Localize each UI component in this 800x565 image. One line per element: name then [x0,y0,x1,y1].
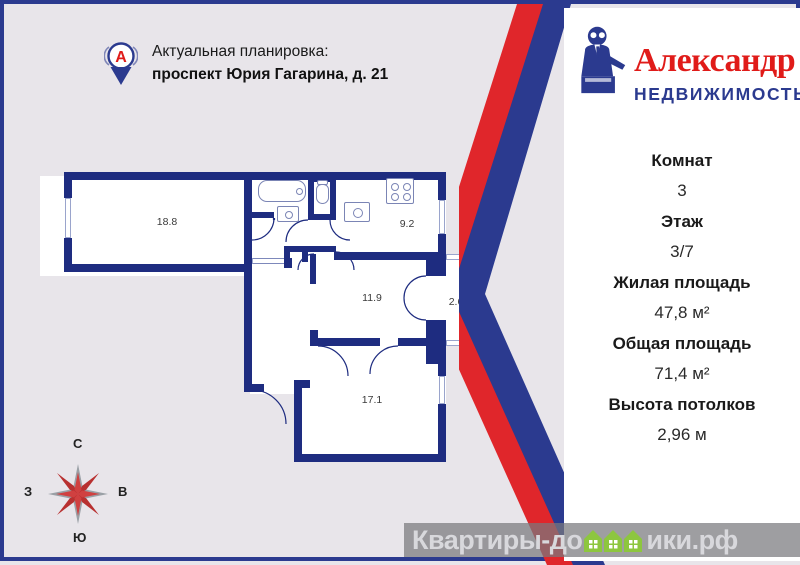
watermark-text-before: Квартиры-до [412,525,582,556]
room-area-9-2: 9.2 [400,218,415,230]
site-watermark: Квартиры-до [404,523,800,557]
spec-value-floor: 3/7 [564,242,800,262]
spec-value-living: 47,8 м² [564,303,800,323]
svg-text:A: A [115,49,127,66]
kitchen-sink-bowl-icon [353,208,363,218]
spec-label-total: Общая площадь [564,334,800,354]
spec-label-rooms: Комнат [564,151,800,171]
compass-south-label: Ю [73,530,86,545]
watermark-text: Квартиры-до [412,525,738,556]
property-specs: Комнат 3 Этаж 3/7 Жилая площадь 47,8 м² … [564,140,800,445]
stove-burner-1-icon [391,183,399,191]
map-pin-icon: A [104,38,138,88]
toilet-tank-icon [317,180,328,185]
info-panel: Александр НЕДВИЖИМОСТЬ Комнат 3 Этаж 3/7… [564,8,800,561]
toilet-icon [316,184,329,204]
door-swings [22,162,492,482]
stove-icon [386,178,414,204]
compass-east-label: В [118,484,127,499]
floor-plan: 18.8 9.2 11.9 2.6 17.1 [22,162,492,482]
company-logo: Александр НЕДВИЖИМОСТЬ [572,22,796,118]
logo-subtitle: НЕДВИЖИМОСТЬ [634,84,800,105]
header-line-2: проспект Юрия Гагарина, д. 21 [152,63,388,86]
spec-value-total: 71,4 м² [564,364,800,384]
room-area-11-9: 11.9 [362,292,382,304]
watermark-text-after: ики.рф [646,525,737,556]
stove-burner-2-icon [403,183,411,191]
logo-title: Александр [634,42,795,80]
room-area-17-1: 17.1 [362,394,382,406]
room-area-18-8: 18.8 [157,216,177,228]
compass-west-label: З [24,484,32,499]
stove-burner-3-icon [391,193,399,201]
floorplan-card: A Актуальная планировка: проспект Юрия Г… [0,0,800,561]
realtor-figure-icon [572,24,628,108]
spec-label-floor: Этаж [564,212,800,232]
spec-label-living: Жилая площадь [564,273,800,293]
spec-label-ceiling: Высота потолков [564,395,800,415]
stove-burner-4-icon [403,193,411,201]
spec-value-rooms: 3 [564,181,800,201]
house-icon [583,527,645,553]
header-line-1: Актуальная планировка: [152,40,388,63]
compass-rose: С В Ю З [22,436,134,548]
header-text: Актуальная планировка: проспект Юрия Гаг… [152,40,388,87]
bathtub-drain-icon [296,188,303,195]
header: A Актуальная планировка: проспект Юрия Г… [104,38,388,88]
compass-north-label: С [73,436,82,451]
spec-value-ceiling: 2,96 м [564,425,800,445]
bathroom-sink-bowl-icon [285,211,293,219]
